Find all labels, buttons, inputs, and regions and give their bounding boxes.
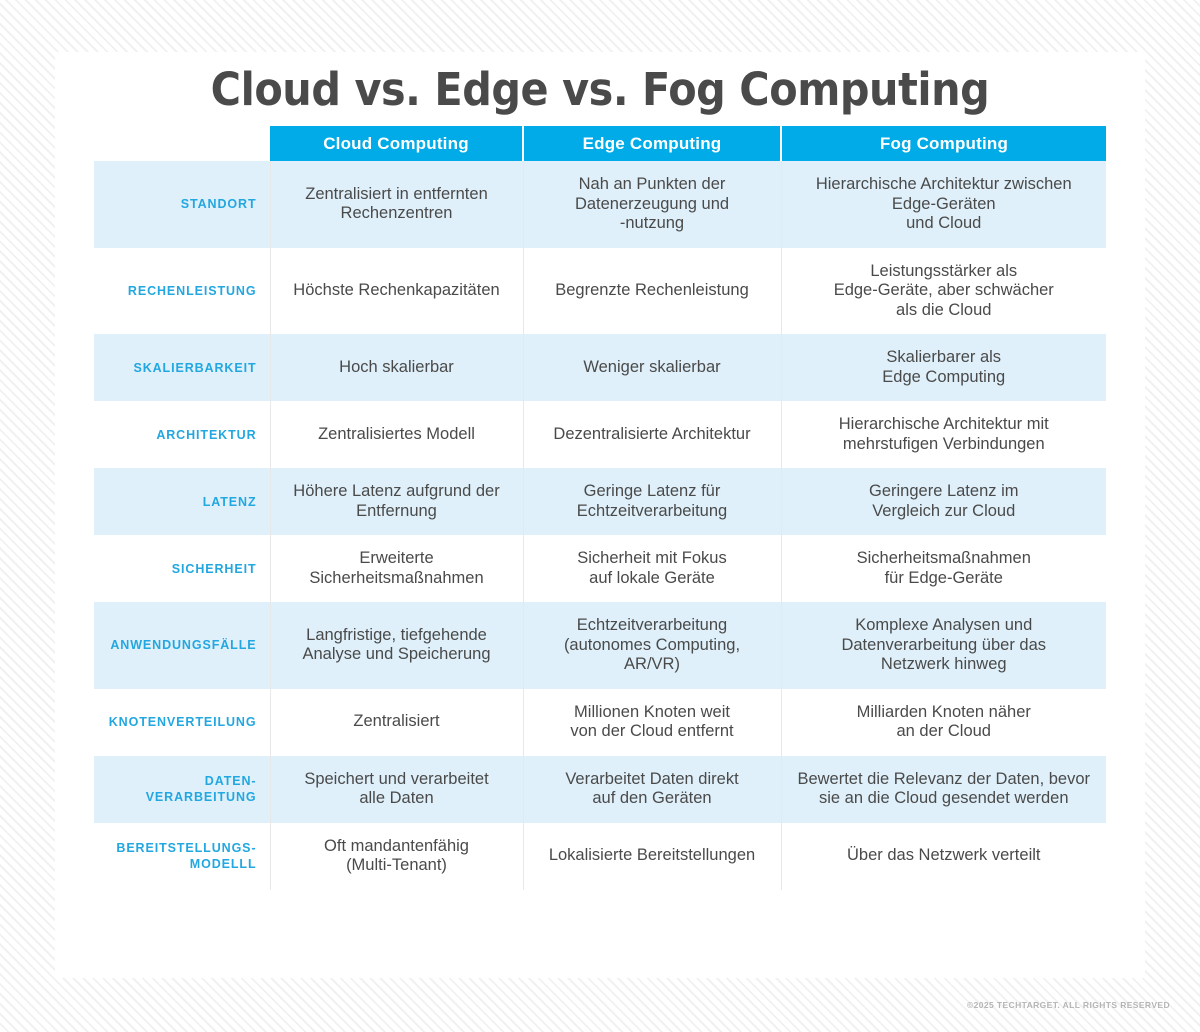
cell-fog: Über das Netzwerk verteilt xyxy=(781,823,1106,890)
cell-edge: Lokalisierte Bereitstellungen xyxy=(523,823,781,890)
cell-fog: Leistungsstärker als Edge-Geräte, aber s… xyxy=(781,248,1106,335)
cell-cloud: Oft mandantenfähig (Multi-Tenant) xyxy=(270,823,523,890)
table-row: LATENZHöhere Latenz aufgrund der Entfern… xyxy=(94,468,1106,535)
cell-fog-text: Bewertet die Relevanz der Daten, bevor s… xyxy=(792,770,1097,809)
cell-fog: Bewertet die Relevanz der Daten, bevor s… xyxy=(781,756,1106,823)
cell-edge-text: Millionen Knoten weit von der Cloud entf… xyxy=(534,703,771,742)
table-row: ANWENDUNGSFÄLLELangfristige, tiefgehende… xyxy=(94,602,1106,689)
column-header-fog-computing: Fog Computing xyxy=(781,126,1106,161)
row-label-text: LATENZ xyxy=(100,494,257,510)
row-label-text: SKALIERBARKEIT xyxy=(100,360,257,376)
row-label-text: ARCHITEKTUR xyxy=(100,427,257,443)
table-row: BEREITSTELLUNGS- MODELLLOft mandantenfäh… xyxy=(94,823,1106,890)
row-label: STANDORT xyxy=(94,161,270,248)
cell-cloud-text: Höhere Latenz aufgrund der Entfernung xyxy=(281,482,513,521)
cell-edge-text: Dezentralisierte Architektur xyxy=(534,425,771,445)
row-label: SKALIERBARKEIT xyxy=(94,334,270,401)
cell-edge-text: Echtzeitverarbeitung (autonomes Computin… xyxy=(534,616,771,675)
cell-fog-text: Komplexe Analysen und Datenverarbeitung … xyxy=(792,616,1097,675)
cell-fog: Skalierbarer als Edge Computing xyxy=(781,334,1106,401)
row-label-text: SICHERHEIT xyxy=(100,561,257,577)
page-title: Cloud vs. Edge vs. Fog Computing xyxy=(99,62,1102,118)
cell-edge: Geringe Latenz für Echtzeitverarbeitung xyxy=(523,468,781,535)
cell-fog: Geringere Latenz im Vergleich zur Cloud xyxy=(781,468,1106,535)
table-body: STANDORTZentralisiert in entfernten Rech… xyxy=(94,161,1106,890)
cell-fog-text: Hierarchische Architektur mit mehrstufig… xyxy=(792,415,1097,454)
column-header-cloud-computing: Cloud Computing xyxy=(270,126,523,161)
row-label-text: ANWENDUNGSFÄLLE xyxy=(100,637,257,653)
row-label: ARCHITEKTUR xyxy=(94,401,270,468)
table-row: SKALIERBARKEITHoch skalierbarWeniger ska… xyxy=(94,334,1106,401)
cell-fog: Milliarden Knoten näher an der Cloud xyxy=(781,689,1106,756)
row-label: RECHENLEISTUNG xyxy=(94,248,270,335)
cell-edge: Millionen Knoten weit von der Cloud entf… xyxy=(523,689,781,756)
cell-edge: Sicherheit mit Fokus auf lokale Geräte xyxy=(523,535,781,602)
row-label-text: KNOTENVERTEILUNG xyxy=(100,714,257,730)
column-header-edge-computing: Edge Computing xyxy=(523,126,781,161)
cell-cloud: Höchste Rechenkapazitäten xyxy=(270,248,523,335)
header-corner-spacer xyxy=(94,126,270,161)
row-label: ANWENDUNGSFÄLLE xyxy=(94,602,270,689)
row-label: SICHERHEIT xyxy=(94,535,270,602)
cell-edge-text: Weniger skalierbar xyxy=(534,358,771,378)
cell-cloud-text: Zentralisiertes Modell xyxy=(281,425,513,445)
cell-fog-text: Milliarden Knoten näher an der Cloud xyxy=(792,703,1097,742)
cell-fog-text: Sicherheitsmaßnahmen für Edge-Geräte xyxy=(792,549,1097,588)
cell-cloud-text: Höchste Rechenkapazitäten xyxy=(281,281,513,301)
row-label: BEREITSTELLUNGS- MODELLL xyxy=(94,823,270,890)
table-row: SICHERHEITErweiterte Sicherheitsmaßnahme… xyxy=(94,535,1106,602)
cell-fog: Hierarchische Architektur mit mehrstufig… xyxy=(781,401,1106,468)
cell-edge-text: Verarbeitet Daten direkt auf den Geräten xyxy=(534,770,771,809)
cell-edge-text: Geringe Latenz für Echtzeitverarbeitung xyxy=(534,482,771,521)
cell-cloud-text: Zentralisiert xyxy=(281,712,513,732)
table-row: DATEN- VERARBEITUNGSpeichert und verarbe… xyxy=(94,756,1106,823)
cell-cloud-text: Oft mandantenfähig (Multi-Tenant) xyxy=(281,837,513,876)
cell-edge-text: Begrenzte Rechenleistung xyxy=(534,281,771,301)
comparison-table: Cloud Computing Edge Computing Fog Compu… xyxy=(94,126,1106,890)
cell-cloud: Erweiterte Sicherheitsmaßnahmen xyxy=(270,535,523,602)
cell-cloud: Langfristige, tiefgehende Analyse und Sp… xyxy=(270,602,523,689)
cell-cloud: Zentralisiertes Modell xyxy=(270,401,523,468)
cell-fog: Hierarchische Architektur zwischen Edge-… xyxy=(781,161,1106,248)
cell-cloud-text: Hoch skalierbar xyxy=(281,358,513,378)
cell-cloud-text: Zentralisiert in entfernten Rechenzentre… xyxy=(281,185,513,224)
table-row: KNOTENVERTEILUNGZentralisiertMillionen K… xyxy=(94,689,1106,756)
cell-edge: Nah an Punkten der Datenerzeugung und -n… xyxy=(523,161,781,248)
cell-fog-text: Über das Netzwerk verteilt xyxy=(792,846,1097,866)
row-label: LATENZ xyxy=(94,468,270,535)
row-label: KNOTENVERTEILUNG xyxy=(94,689,270,756)
cell-fog-text: Hierarchische Architektur zwischen Edge-… xyxy=(792,175,1097,234)
cell-cloud: Zentralisiert in entfernten Rechenzentre… xyxy=(270,161,523,248)
cell-fog-text: Skalierbarer als Edge Computing xyxy=(792,348,1097,387)
cell-edge-text: Lokalisierte Bereitstellungen xyxy=(534,846,771,866)
cell-cloud: Zentralisiert xyxy=(270,689,523,756)
cell-edge-text: Nah an Punkten der Datenerzeugung und -n… xyxy=(534,175,771,234)
table-row: RECHENLEISTUNGHöchste RechenkapazitätenB… xyxy=(94,248,1106,335)
cell-edge: Begrenzte Rechenleistung xyxy=(523,248,781,335)
row-label-text: STANDORT xyxy=(100,196,257,212)
row-label-text: DATEN- VERARBEITUNG xyxy=(100,773,257,805)
infographic-card: Cloud vs. Edge vs. Fog Computing Cloud C… xyxy=(55,52,1145,978)
cell-edge: Echtzeitverarbeitung (autonomes Computin… xyxy=(523,602,781,689)
cell-cloud-text: Langfristige, tiefgehende Analyse und Sp… xyxy=(281,626,513,665)
table-header: Cloud Computing Edge Computing Fog Compu… xyxy=(94,126,1106,161)
cell-cloud-text: Speichert und verarbeitet alle Daten xyxy=(281,770,513,809)
cell-edge: Weniger skalierbar xyxy=(523,334,781,401)
table-header-row: Cloud Computing Edge Computing Fog Compu… xyxy=(94,126,1106,161)
row-label-text: RECHENLEISTUNG xyxy=(100,283,257,299)
cell-fog-text: Leistungsstärker als Edge-Geräte, aber s… xyxy=(792,262,1097,321)
cell-fog-text: Geringere Latenz im Vergleich zur Cloud xyxy=(792,482,1097,521)
cell-edge: Verarbeitet Daten direkt auf den Geräten xyxy=(523,756,781,823)
cell-fog: Komplexe Analysen und Datenverarbeitung … xyxy=(781,602,1106,689)
cell-cloud: Höhere Latenz aufgrund der Entfernung xyxy=(270,468,523,535)
cell-cloud: Speichert und verarbeitet alle Daten xyxy=(270,756,523,823)
cell-edge-text: Sicherheit mit Fokus auf lokale Geräte xyxy=(534,549,771,588)
row-label-text: BEREITSTELLUNGS- MODELLL xyxy=(100,840,257,872)
cell-cloud: Hoch skalierbar xyxy=(270,334,523,401)
copyright-notice: ©2025 TECHTARGET. ALL RIGHTS RESERVED xyxy=(967,1000,1170,1010)
table-row: STANDORTZentralisiert in entfernten Rech… xyxy=(94,161,1106,248)
cell-cloud-text: Erweiterte Sicherheitsmaßnahmen xyxy=(281,549,513,588)
cell-edge: Dezentralisierte Architektur xyxy=(523,401,781,468)
table-row: ARCHITEKTURZentralisiertes ModellDezentr… xyxy=(94,401,1106,468)
cell-fog: Sicherheitsmaßnahmen für Edge-Geräte xyxy=(781,535,1106,602)
row-label: DATEN- VERARBEITUNG xyxy=(94,756,270,823)
